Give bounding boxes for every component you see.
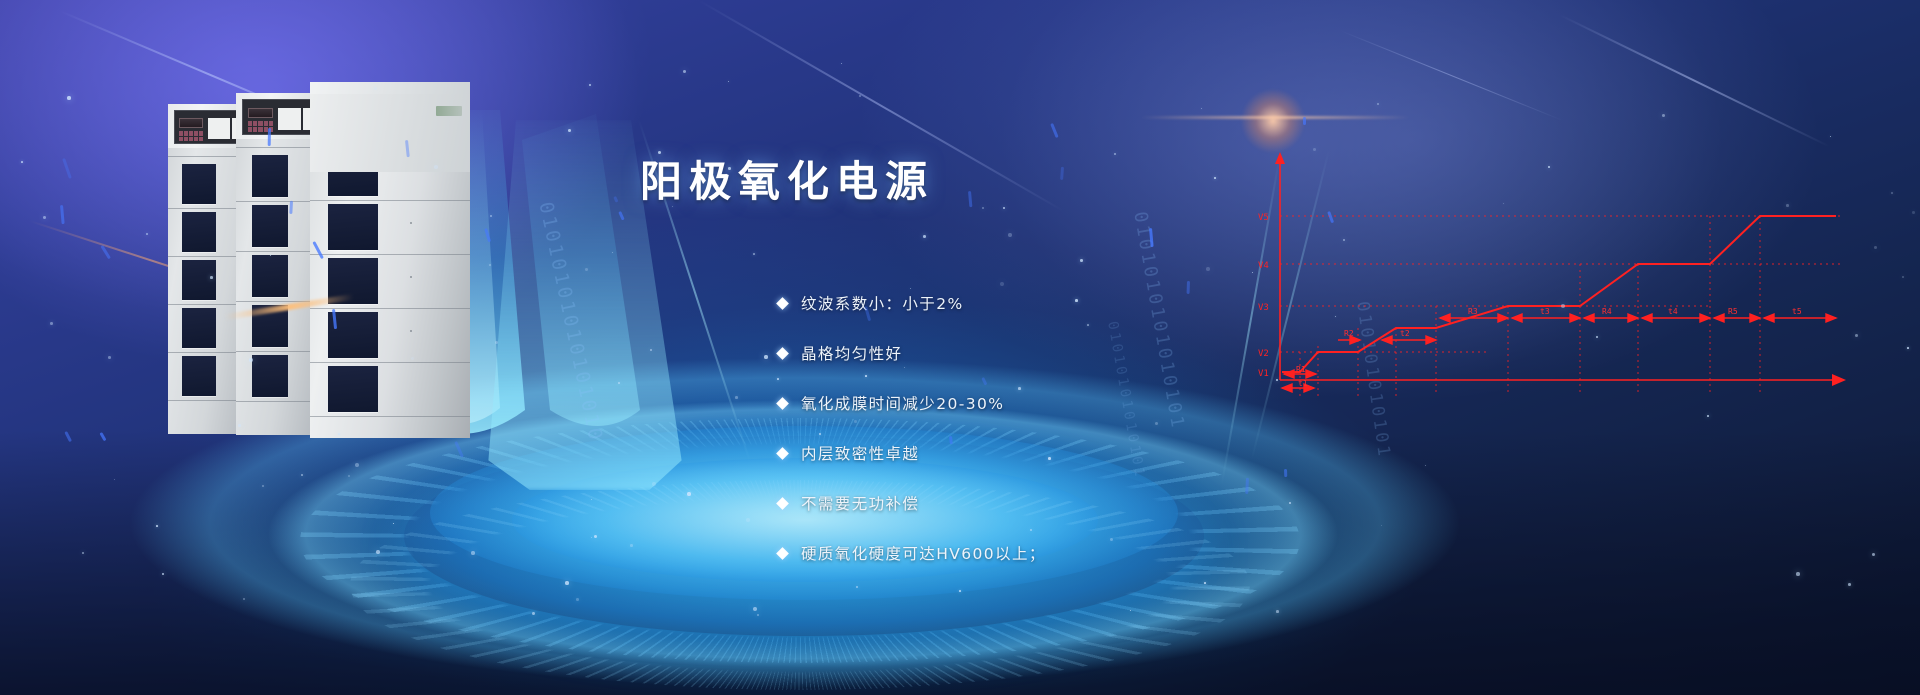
chart-y-arrow	[1275, 152, 1285, 164]
svg-text:V1: V1	[1258, 369, 1269, 379]
list-item: 不需要无功补偿	[778, 478, 1258, 528]
chart-waveform	[1282, 216, 1836, 372]
svg-text:R5: R5	[1728, 307, 1738, 316]
list-item-label: 硬质氧化硬度可达HV600以上；	[801, 542, 1046, 564]
cabinet-brand-mark	[436, 106, 462, 116]
voltage-step-chart: V1 V2 V3 V4 V5	[1240, 150, 1900, 410]
lens-flare-streak	[1140, 116, 1410, 119]
svg-text:V5: V5	[1258, 213, 1269, 223]
light-streak-3	[1559, 14, 1830, 147]
light-streak-4	[1340, 30, 1563, 121]
banner-stage: 01010101010101010 0101010101010101 01010…	[0, 0, 1920, 695]
svg-text:R4: R4	[1602, 307, 1612, 316]
list-item: 内层致密性卓越	[778, 428, 1258, 478]
diamond-bullet-icon	[776, 497, 789, 510]
list-item-label: 内层致密性卓越	[801, 442, 919, 464]
list-item-label: 晶格均匀性好	[801, 342, 902, 364]
svg-text:t3: t3	[1540, 307, 1550, 316]
list-item: 氧化成膜时间减少20-30%	[778, 378, 1258, 428]
svg-text:R3: R3	[1468, 307, 1478, 316]
svg-text:t2: t2	[1400, 329, 1410, 338]
svg-text:t5: t5	[1792, 307, 1802, 316]
svg-text:R1: R1	[1296, 365, 1306, 374]
diamond-bullet-icon	[776, 447, 789, 460]
list-item-label: 氧化成膜时间减少20-30%	[801, 392, 1004, 414]
power-cabinets	[168, 82, 488, 462]
list-item-label: 纹波系数小：小于2%	[801, 292, 964, 314]
svg-text:R2: R2	[1344, 329, 1354, 338]
page-title: 阳极氧化电源	[640, 148, 934, 209]
svg-text:V3: V3	[1258, 303, 1269, 313]
chart-dimension-top	[1440, 314, 1836, 322]
svg-text:t1: t1	[1298, 379, 1308, 388]
list-item: 晶格均匀性好	[778, 328, 1258, 378]
diamond-bullet-icon	[776, 347, 789, 360]
svg-text:t4: t4	[1668, 307, 1678, 316]
chart-hgrid	[1280, 216, 1840, 352]
chart-segment-labels: R1 t1 R2 t2 R3 t3 R4 t4 R5 t5	[1296, 307, 1802, 388]
chart-svg: V1 V2 V3 V4 V5	[1240, 150, 1900, 410]
list-item-label: 不需要无功补偿	[801, 492, 919, 514]
diamond-bullet-icon	[776, 397, 789, 410]
svg-text:V4: V4	[1258, 261, 1269, 271]
svg-text:V2: V2	[1258, 349, 1269, 359]
list-item: 硬质氧化硬度可达HV600以上；	[778, 528, 1258, 578]
list-item: 纹波系数小：小于2%	[778, 278, 1258, 328]
diamond-bullet-icon	[776, 297, 789, 310]
chart-y-labels: V1 V2 V3 V4 V5	[1258, 213, 1269, 379]
feature-list: 纹波系数小：小于2% 晶格均匀性好 氧化成膜时间减少20-30% 内层致密性卓越…	[778, 278, 1258, 578]
binary-stream-1: 01010101010101010	[534, 200, 607, 445]
chart-x-arrow	[1832, 374, 1846, 386]
diamond-bullet-icon	[776, 547, 789, 560]
